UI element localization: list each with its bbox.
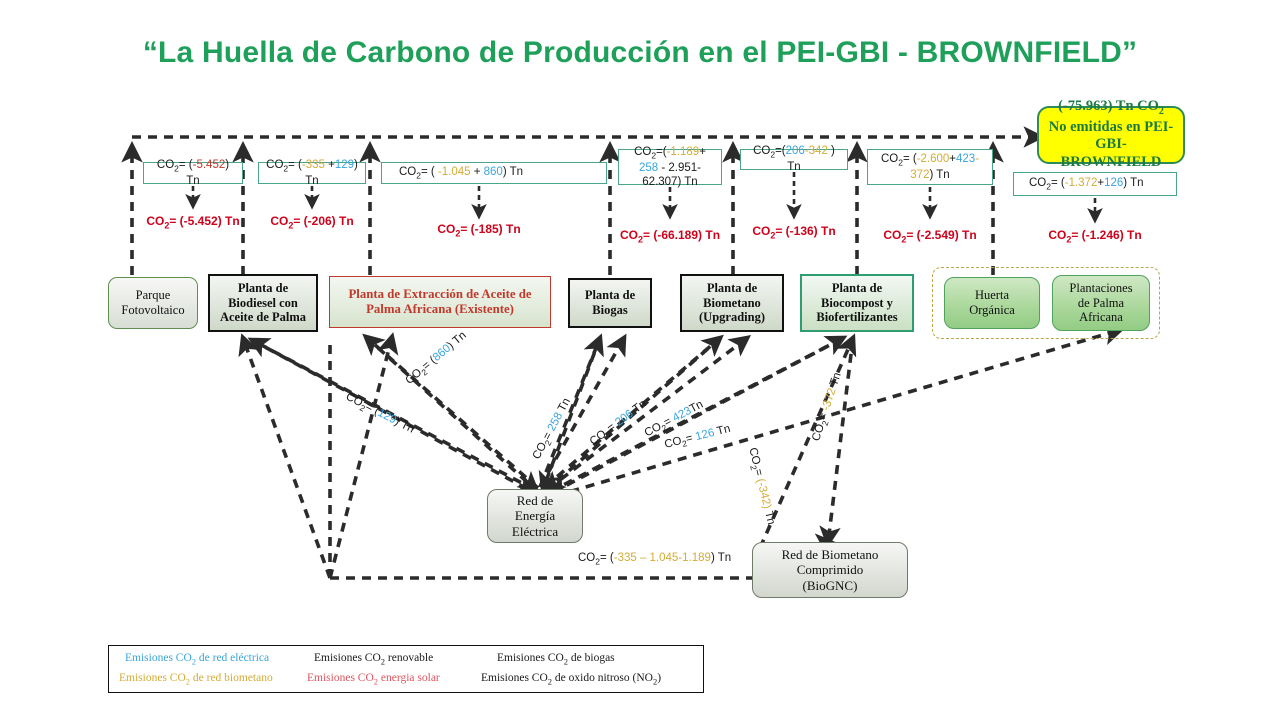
- summary-line-3: GBI-BROWNFIELD: [1045, 136, 1177, 171]
- formula-box-plantaciones-huerta: CO2= (-1.372+126) Tn: [1013, 172, 1177, 196]
- result-label-planta-biodiesel: CO2= (-206) Tn: [270, 214, 353, 230]
- legend-item-biogas: Emisiones CO2 de biogas: [497, 652, 615, 666]
- node-planta-biodiesel-label: Planta deBiodiesel conAceite de Palma: [220, 281, 306, 325]
- node-plantaciones-palma-label: Plantacionesde PalmaAfricana: [1069, 281, 1132, 325]
- result-label-parque-fotovoltaico: CO2= (-5.452) Tn: [146, 214, 239, 230]
- node-planta-extraccion-aceite-label: Planta de Extracción de Aceite dePalma A…: [348, 287, 531, 317]
- formula-box-planta-extraccion-aceite: CO2= ( -1.045 + 860) Tn: [381, 162, 607, 184]
- node-red-energia-electrica[interactable]: Red deEnergíaEléctrica: [487, 489, 583, 543]
- node-parque-fotovoltaico[interactable]: ParqueFotovoltaico: [108, 277, 198, 329]
- summary-line-2: No emitidas en PEI-: [1049, 119, 1173, 137]
- page-title: “La Huella de Carbono de Producción en e…: [0, 36, 1280, 70]
- legend-box: Emisiones CO2 de red eléctrica Emisiones…: [108, 645, 704, 693]
- edge-label-342: CO2= (-342) Tn: [744, 446, 777, 526]
- result-label-planta-biocompost: CO2= (-2.549) Tn: [883, 228, 976, 244]
- node-red-biometano-comprimido[interactable]: Red de BiometanoComprimido(BioGNC): [752, 542, 908, 598]
- node-planta-biometano[interactable]: Planta deBiometano(Upgrading): [680, 274, 784, 332]
- formula-box-planta-biometano: CO2=(206-342 ) Tn: [740, 149, 848, 170]
- legend-item-red-electrica: Emisiones CO2 de red eléctrica: [125, 652, 269, 666]
- edge-label-258: CO2= 258 Tn: [531, 396, 575, 462]
- node-red-biometano-comprimido-label: Red de BiometanoComprimido(BioGNC): [782, 547, 879, 593]
- legend-item-energia-solar: Emisiones CO2 energia solar: [307, 672, 440, 686]
- legend-item-oxido-nitroso: Emisiones CO2 de oxido nitroso (NO2): [481, 672, 661, 686]
- result-label-plantaciones-huerta: CO2= (-1.246) Tn: [1048, 228, 1141, 244]
- diagram-canvas: “La Huella de Carbono de Producción en e…: [0, 0, 1280, 720]
- edge-label-129: CO2= (129) Tn: [343, 391, 416, 438]
- formula-box-planta-biodiesel: CO2= (-335 +129) Tn: [258, 162, 366, 184]
- formula-box-parque-fotovoltaico: CO2= (-5.452) Tn: [143, 162, 243, 184]
- edge-label-860: CO2= (860) Tn: [403, 329, 470, 388]
- node-red-energia-electrica-label: Red deEnergíaEléctrica: [512, 493, 558, 539]
- summary-box: (-75.963) Tn CO2 No emitidas en PEI- GBI…: [1037, 106, 1185, 164]
- node-huerta-organica[interactable]: HuertaOrgánica: [944, 277, 1040, 329]
- node-plantaciones-palma[interactable]: Plantacionesde PalmaAfricana: [1052, 275, 1150, 331]
- result-label-planta-extraccion-aceite: CO2= (-185) Tn: [437, 222, 520, 238]
- edge-label-372: CO2= -372 Tn: [810, 371, 846, 443]
- node-planta-biometano-label: Planta deBiometano(Upgrading): [699, 281, 765, 325]
- summary-line-1: (-75.963) Tn CO2: [1058, 98, 1164, 118]
- edge-label-biometano-bottom: CO2= (-335 – 1.045-1.189) Tn: [578, 552, 731, 566]
- node-huerta-organica-label: HuertaOrgánica: [969, 288, 1015, 318]
- node-planta-biogas-label: Planta deBiogas: [585, 288, 635, 318]
- legend-item-red-biometano: Emisiones CO2 de red biometano: [119, 672, 273, 686]
- node-planta-biocompost-label: Planta deBiocompost yBiofertilizantes: [816, 281, 897, 325]
- result-label-planta-biogas: CO2= (-66.189) Tn: [620, 228, 720, 244]
- node-planta-biodiesel[interactable]: Planta deBiodiesel conAceite de Palma: [208, 274, 318, 332]
- result-label-planta-biometano: CO2= (-136) Tn: [752, 224, 835, 240]
- formula-box-planta-biogas: CO2=(-1.189+ 258 - 2.951-62.307) Tn: [618, 149, 722, 185]
- formula-box-planta-biocompost: CO2= (-2.600+423-372) Tn: [867, 149, 993, 185]
- edge-label-206: CO2= 206 Tn: [588, 398, 651, 450]
- node-planta-biocompost[interactable]: Planta deBiocompost yBiofertilizantes: [800, 274, 914, 332]
- node-planta-biogas[interactable]: Planta deBiogas: [568, 278, 652, 328]
- node-parque-fotovoltaico-label: ParqueFotovoltaico: [121, 288, 184, 318]
- node-planta-extraccion-aceite[interactable]: Planta de Extracción de Aceite dePalma A…: [329, 276, 551, 328]
- legend-item-renovable: Emisiones CO2 renovable: [314, 652, 433, 666]
